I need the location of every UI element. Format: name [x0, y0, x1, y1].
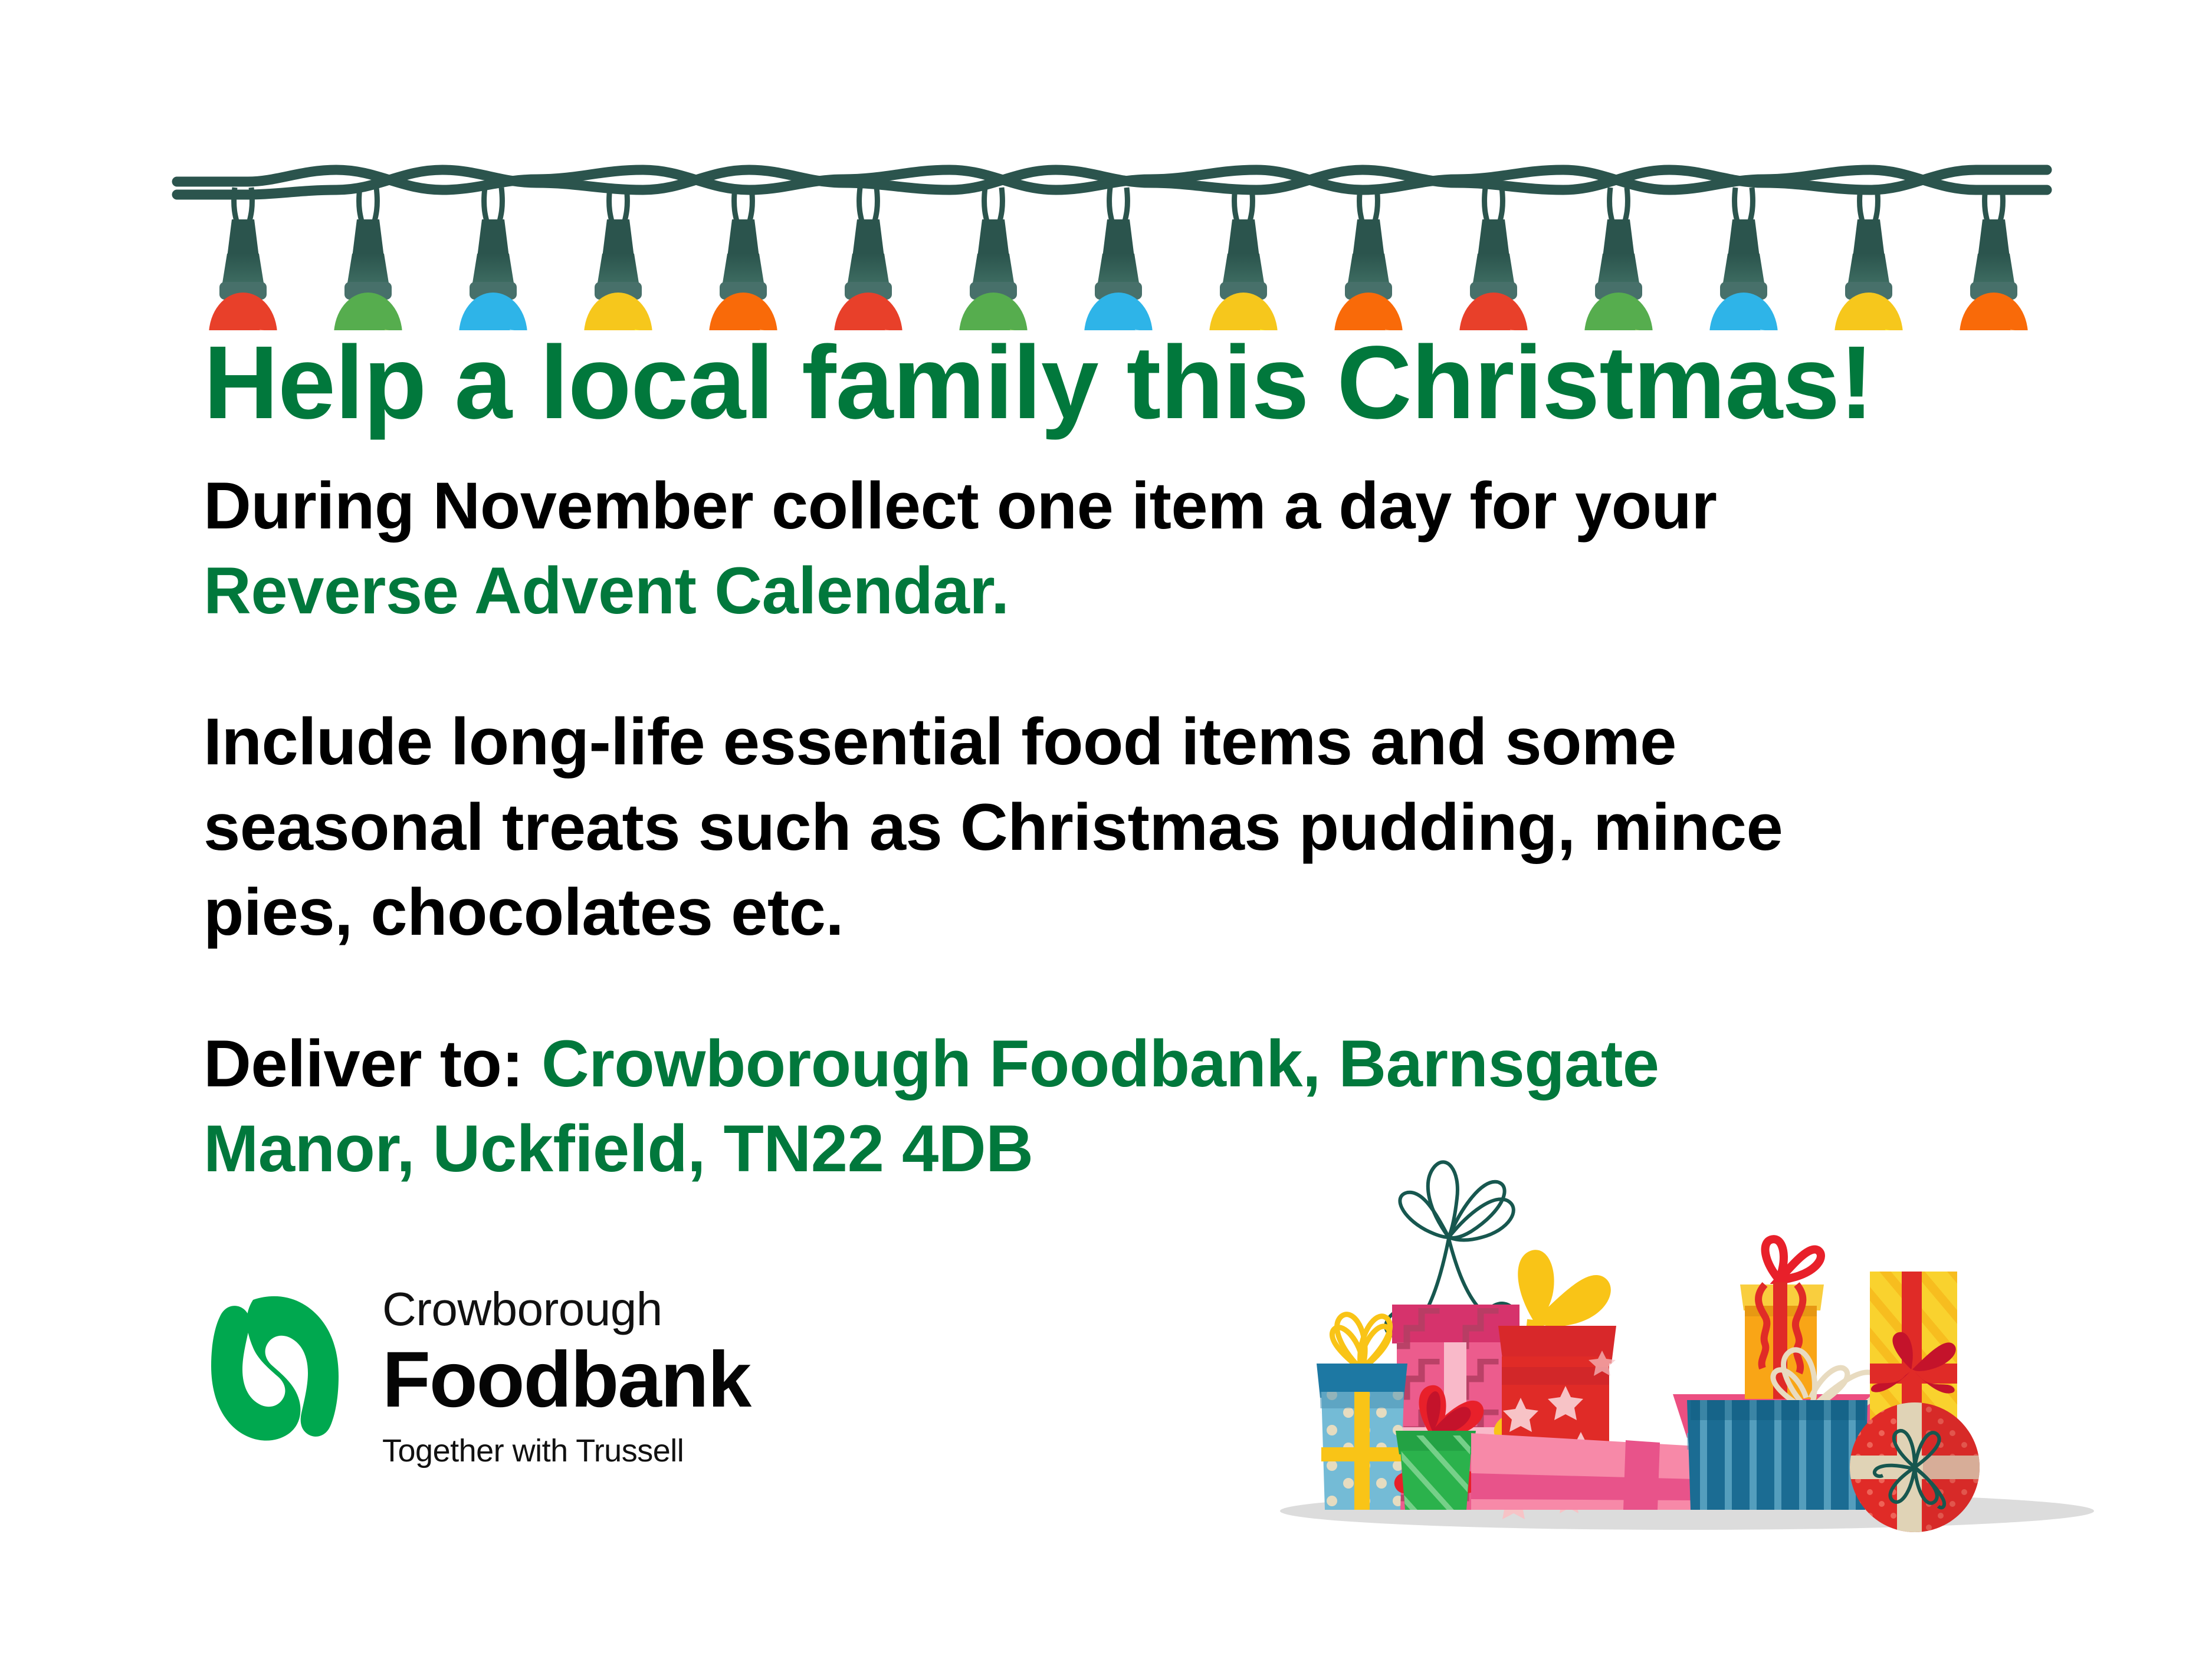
paragraph-include-line2: seasonal treats such as Christmas puddin… [204, 790, 1783, 864]
deliver-to-label: Deliver to: [204, 1027, 541, 1100]
gift-blue-polkadot [1317, 1315, 1407, 1510]
christmas-lights-decoration [0, 0, 2212, 330]
trussell-link-mark-icon [208, 1290, 354, 1443]
logo-line-crowborough: Crowborough [382, 1286, 831, 1333]
paragraph-collect-green: Reverse Advent Calendar. [204, 554, 1009, 628]
gift-ribbon-horizontal [1321, 1447, 1403, 1461]
paragraph-collect-black: During November collect one item a day f… [204, 469, 1717, 543]
logo-tagline: Together with Trussell [382, 1433, 831, 1469]
page-title: Help a local family this Christmas! [204, 330, 1973, 436]
paragraph-collect: During November collect one item a day f… [204, 464, 1973, 634]
gift-pink-flat [1471, 1433, 1696, 1510]
text-spacer-1 [204, 633, 1973, 699]
crowborough-foodbank-logo: Crowborough Foodbank Together with Truss… [208, 1286, 833, 1486]
gift-bow-red-small [1765, 1239, 1821, 1280]
delivery-address-line2: Manor, Uckfield, TN22 4DB [204, 1112, 1033, 1185]
light-bulb [209, 188, 2028, 330]
gift-navy-stripe [1687, 1350, 1879, 1512]
gift-pattern-stripes [1396, 1431, 1478, 1513]
logo-wordmark: Crowborough Foodbank Together with Truss… [382, 1286, 831, 1469]
poster-canvas: Help a local family this Christmas! Duri… [0, 0, 2212, 1659]
paragraph-include-line3: pies, chocolates etc. [204, 875, 844, 949]
gift-ribbon-horizontal [1870, 1364, 1957, 1384]
christmas-presents-illustration [1274, 1156, 2135, 1569]
delivery-address-line1: Crowborough Foodbank, Barnsgate [541, 1027, 1659, 1100]
gift-ribbon-vertical [1623, 1440, 1660, 1510]
gift-bow-yellow [1332, 1315, 1390, 1369]
paragraph-include: Include long-life essential food items a… [204, 699, 1973, 955]
logo-line-foodbank: Foodbank [382, 1339, 831, 1422]
gift-red-bauble [1850, 1402, 1980, 1532]
poster-text-block: Help a local family this Christmas! Duri… [204, 330, 1973, 1192]
text-spacer-2 [204, 955, 1973, 1021]
paragraph-include-line1: Include long-life essential food items a… [204, 705, 1676, 778]
